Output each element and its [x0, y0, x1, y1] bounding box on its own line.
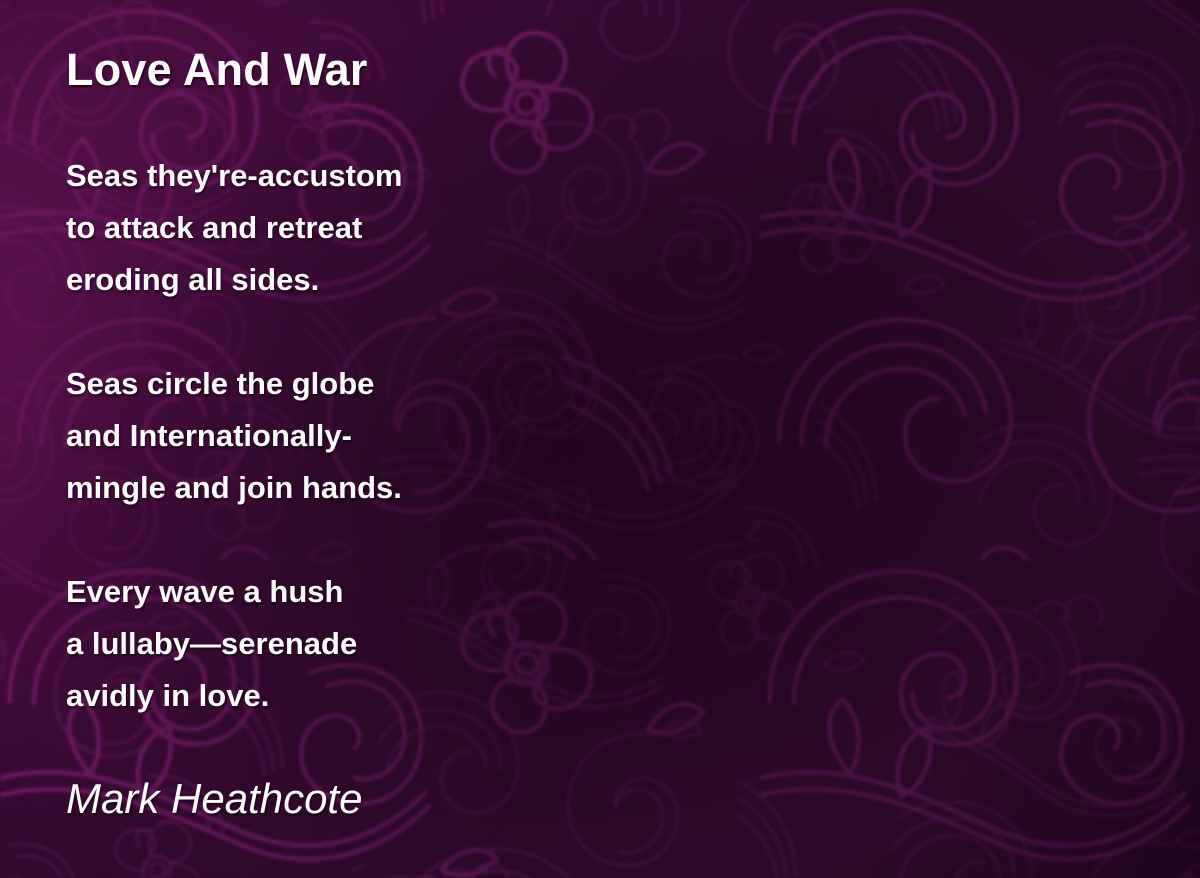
poem-stanza: Seas they're-accustom to attack and retr… [66, 150, 706, 306]
poem-line: and Internationally- [66, 410, 706, 462]
poem-line: Seas circle the globe [66, 358, 706, 410]
poem-line: to attack and retreat [66, 202, 706, 254]
poem-line: Every wave a hush [66, 566, 706, 618]
poem-line: eroding all sides. [66, 254, 706, 306]
poem-content: Love And War Seas they're-accustom to at… [0, 0, 1200, 878]
poem-author: Mark Heathcote [66, 776, 362, 822]
poem-stanza: Every wave a hush a lullaby—serenade avi… [66, 566, 706, 722]
poem-title: Love And War [66, 46, 368, 93]
poem-line: mingle and join hands. [66, 462, 706, 514]
poem-card: Love And War Seas they're-accustom to at… [0, 0, 1200, 878]
poem-line: Seas they're-accustom [66, 150, 706, 202]
poem-stanza: Seas circle the globe and Internationall… [66, 358, 706, 514]
poem-line: avidly in love. [66, 670, 706, 722]
poem-line: a lullaby—serenade [66, 618, 706, 670]
poem-body: Seas they're-accustom to attack and retr… [66, 150, 706, 722]
